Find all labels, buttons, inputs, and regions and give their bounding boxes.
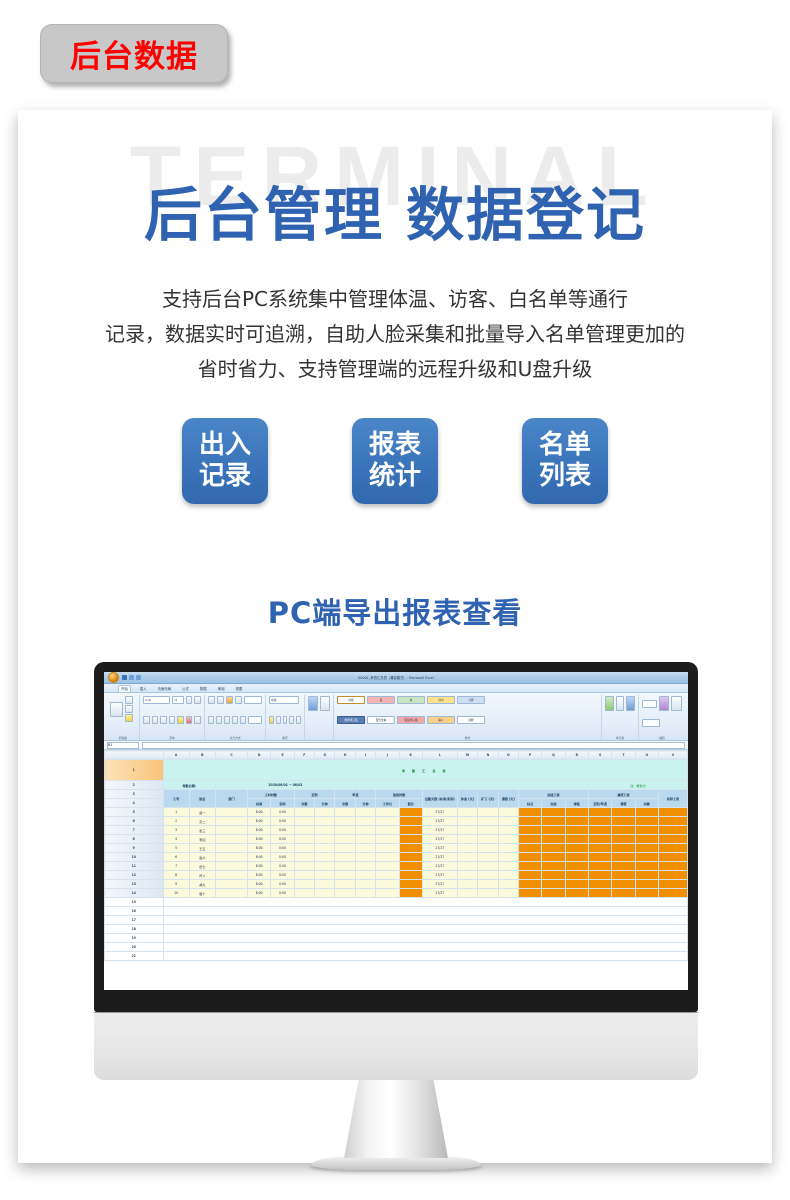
cell-attendance-days[interactable]: 27/27 xyxy=(422,835,457,844)
cell-deduct-other[interactable] xyxy=(635,853,658,862)
row-header-2[interactable]: 2 xyxy=(105,781,164,790)
sort-filter-icon[interactable] xyxy=(659,696,670,711)
cell-hours-standard[interactable]: 8:00 xyxy=(248,808,271,817)
table-row[interactable]: 10 6 赵六 8:00 0:00 27/27 xyxy=(105,853,688,862)
cell-otpay-base[interactable] xyxy=(518,808,541,817)
cell-deduct-late-early[interactable] xyxy=(588,835,611,844)
cell-emp-name[interactable]: 张三 xyxy=(189,826,215,835)
cell-otpay-overtime[interactable] xyxy=(542,835,565,844)
empty-cells[interactable] xyxy=(163,907,688,916)
cell-department[interactable] xyxy=(215,880,247,889)
row-header-10[interactable]: 10 xyxy=(105,853,164,862)
empty-row[interactable]: 19 xyxy=(105,934,688,943)
cell-otpay-allowance[interactable] xyxy=(565,862,588,871)
table-row[interactable]: 8 4 李四 8:00 0:00 27/27 xyxy=(105,835,688,844)
ribbon-tab-data[interactable]: 数据 xyxy=(198,686,209,692)
cell-otpay-base[interactable] xyxy=(518,862,541,871)
cell-leave-days[interactable] xyxy=(498,844,518,853)
empty-cells[interactable] xyxy=(163,943,688,952)
cell-attendance-days[interactable]: 27/27 xyxy=(422,889,457,898)
style-input[interactable]: 注释 xyxy=(457,716,485,724)
cell-absent-days[interactable] xyxy=(478,853,498,862)
cell-late-count[interactable] xyxy=(294,889,314,898)
row-header-1[interactable]: 1 xyxy=(105,760,164,781)
cell-otpay-overtime[interactable] xyxy=(542,889,565,898)
cell-attendance-days[interactable]: 27/27 xyxy=(422,853,457,862)
cell-emp-id[interactable]: 9 xyxy=(163,880,189,889)
cell-otpay-base[interactable] xyxy=(518,880,541,889)
table-row[interactable]: 11 7 田七 8:00 0:00 27/27 xyxy=(105,862,688,871)
cell-leave-days[interactable] xyxy=(498,817,518,826)
cell-early-minutes[interactable] xyxy=(355,862,375,871)
cell-ot-holiday[interactable] xyxy=(399,808,422,817)
row-header-3[interactable]: 3 xyxy=(105,790,164,799)
cell-otpay-base[interactable] xyxy=(518,817,541,826)
format-cells-icon[interactable] xyxy=(626,696,635,711)
row-header-18[interactable]: 18 xyxy=(105,925,164,934)
cell-actual-pay[interactable] xyxy=(658,889,687,898)
cell-ot-holiday[interactable] xyxy=(399,889,422,898)
delete-cells-icon[interactable] xyxy=(616,696,625,711)
format-painter-icon[interactable] xyxy=(125,714,133,722)
cell-actual-pay[interactable] xyxy=(658,826,687,835)
shrink-font-icon[interactable] xyxy=(194,696,201,704)
column-header-l[interactable]: L xyxy=(422,751,457,760)
cell-rest-days[interactable] xyxy=(457,844,477,853)
row-header-5[interactable]: 5 xyxy=(105,808,164,817)
cell-late-count[interactable] xyxy=(294,862,314,871)
decrease-decimal-icon[interactable] xyxy=(296,716,301,724)
cell-deduct-late-early[interactable] xyxy=(588,880,611,889)
cell-emp-id[interactable]: 4 xyxy=(163,835,189,844)
table-row[interactable]: 7 3 张三 8:00 0:00 27/27 xyxy=(105,826,688,835)
table-row[interactable]: 14 10 程十 8:00 0:00 27/27 xyxy=(105,889,688,898)
cell-actual-pay[interactable] xyxy=(658,880,687,889)
cell-otpay-overtime[interactable] xyxy=(542,826,565,835)
formula-input[interactable] xyxy=(142,742,685,749)
cell-deduct-leave[interactable] xyxy=(612,835,635,844)
percent-icon[interactable] xyxy=(276,716,281,724)
cell-late-count[interactable] xyxy=(294,835,314,844)
cell-otpay-base[interactable] xyxy=(518,871,541,880)
column-header-s[interactable]: S xyxy=(588,751,611,760)
increase-decimal-icon[interactable] xyxy=(289,716,294,724)
cell-deduct-leave[interactable] xyxy=(612,844,635,853)
italic-icon[interactable] xyxy=(152,716,159,724)
empty-row[interactable]: 17 xyxy=(105,916,688,925)
cell-otpay-allowance[interactable] xyxy=(565,835,588,844)
cell-otpay-overtime[interactable] xyxy=(542,808,565,817)
cell-ot-weekday[interactable] xyxy=(376,871,399,880)
cell-otpay-overtime[interactable] xyxy=(542,844,565,853)
cell-ot-holiday[interactable] xyxy=(399,826,422,835)
row-header-6[interactable]: 6 xyxy=(105,817,164,826)
cell-hours-standard[interactable]: 8:00 xyxy=(248,880,271,889)
cell-attendance-days[interactable]: 27/27 xyxy=(422,862,457,871)
cell-department[interactable] xyxy=(215,871,247,880)
cell-hours-actual[interactable]: 0:00 xyxy=(271,853,294,862)
decrease-indent-icon[interactable] xyxy=(232,716,238,724)
feature-button-entry-record[interactable]: 出入 记录 xyxy=(182,418,268,504)
cell-early-count[interactable] xyxy=(335,853,355,862)
style-check-cell[interactable]: 检查单元格 xyxy=(337,716,365,724)
cell-department[interactable] xyxy=(215,808,247,817)
cell-emp-id[interactable]: 3 xyxy=(163,826,189,835)
row-header-13[interactable]: 13 xyxy=(105,880,164,889)
cell-hours-standard[interactable]: 8:00 xyxy=(248,844,271,853)
ribbon-tab-review[interactable]: 审阅 xyxy=(216,686,227,692)
cell-otpay-allowance[interactable] xyxy=(565,826,588,835)
column-header-u[interactable]: U xyxy=(635,751,658,760)
cell-actual-pay[interactable] xyxy=(658,808,687,817)
font-family-select[interactable]: Arial xyxy=(143,696,170,704)
cell-ot-holiday[interactable] xyxy=(399,853,422,862)
column-header-m[interactable]: M xyxy=(457,751,477,760)
cell-absent-days[interactable] xyxy=(478,844,498,853)
cell-deduct-leave[interactable] xyxy=(612,880,635,889)
align-center-icon[interactable] xyxy=(216,716,222,724)
cell-emp-name[interactable]: 赵一 xyxy=(189,808,215,817)
cell-early-count[interactable] xyxy=(335,817,355,826)
wrap-text-button[interactable] xyxy=(244,696,262,704)
cell-deduct-other[interactable] xyxy=(635,880,658,889)
cell-ot-weekday[interactable] xyxy=(376,808,399,817)
cell-deduct-late-early[interactable] xyxy=(588,844,611,853)
align-bottom-icon[interactable] xyxy=(226,696,233,704)
ribbon-tab-formulas[interactable]: 公式 xyxy=(180,686,191,692)
cell-actual-pay[interactable] xyxy=(658,844,687,853)
cut-icon[interactable] xyxy=(125,696,133,704)
cell-department[interactable] xyxy=(215,844,247,853)
column-header-n[interactable]: N xyxy=(478,751,498,760)
format-as-table-icon[interactable] xyxy=(320,696,330,711)
cell-rest-days[interactable] xyxy=(457,862,477,871)
row-header-16[interactable]: 16 xyxy=(105,907,164,916)
cell-hours-actual[interactable]: 0:00 xyxy=(271,889,294,898)
table-row[interactable]: 12 8 符八 8:00 0:00 27/27 xyxy=(105,871,688,880)
cell-early-minutes[interactable] xyxy=(355,844,375,853)
cell-ot-weekday[interactable] xyxy=(376,817,399,826)
column-header-c[interactable]: C xyxy=(215,751,247,760)
cell-deduct-leave[interactable] xyxy=(612,889,635,898)
cell-deduct-other[interactable] xyxy=(635,835,658,844)
cell-early-count[interactable] xyxy=(335,844,355,853)
column-header-j[interactable]: J xyxy=(376,751,399,760)
row-header-15[interactable]: 15 xyxy=(105,898,164,907)
copy-icon[interactable] xyxy=(125,705,133,713)
cell-late-minutes[interactable] xyxy=(315,880,335,889)
cell-early-minutes[interactable] xyxy=(355,889,375,898)
cell-early-count[interactable] xyxy=(335,880,355,889)
empty-row[interactable]: 20 xyxy=(105,943,688,952)
cell-emp-name[interactable]: 李四 xyxy=(189,835,215,844)
cell-early-count[interactable] xyxy=(335,862,355,871)
empty-cells[interactable] xyxy=(163,916,688,925)
comma-icon[interactable] xyxy=(283,716,288,724)
column-header-k[interactable]: K xyxy=(399,751,422,760)
cell-ot-holiday[interactable] xyxy=(399,817,422,826)
style-normal[interactable]: 常规 xyxy=(337,696,365,704)
cell-emp-name[interactable]: 符八 xyxy=(189,871,215,880)
border-icon[interactable] xyxy=(169,716,176,724)
cell-emp-name[interactable]: 王五 xyxy=(189,844,215,853)
column-header-b[interactable]: B xyxy=(189,751,215,760)
cell-late-count[interactable] xyxy=(294,871,314,880)
cell-emp-id[interactable]: 8 xyxy=(163,871,189,880)
cell-hours-standard[interactable]: 8:00 xyxy=(248,826,271,835)
cell-late-count[interactable] xyxy=(294,826,314,835)
cell-rest-days[interactable] xyxy=(457,880,477,889)
cell-emp-id[interactable]: 5 xyxy=(163,844,189,853)
cell-otpay-overtime[interactable] xyxy=(542,880,565,889)
cell-early-minutes[interactable] xyxy=(355,808,375,817)
table-row[interactable]: 9 5 王五 8:00 0:00 27/27 xyxy=(105,844,688,853)
cell-hours-actual[interactable]: 0:00 xyxy=(271,835,294,844)
cell-emp-id[interactable]: 1 xyxy=(163,808,189,817)
cell-ot-holiday[interactable] xyxy=(399,880,422,889)
cell-early-minutes[interactable] xyxy=(355,835,375,844)
cell-hours-standard[interactable]: 8:00 xyxy=(248,853,271,862)
cell-ot-weekday[interactable] xyxy=(376,880,399,889)
cell-early-count[interactable] xyxy=(335,889,355,898)
cell-otpay-base[interactable] xyxy=(518,889,541,898)
ribbon-tab-home[interactable]: 开始 xyxy=(118,685,131,692)
cell-emp-name[interactable]: 田七 xyxy=(189,862,215,871)
cell-otpay-overtime[interactable] xyxy=(542,817,565,826)
cell-deduct-leave[interactable] xyxy=(612,853,635,862)
cell-rest-days[interactable] xyxy=(457,817,477,826)
cell-hours-standard[interactable]: 8:00 xyxy=(248,835,271,844)
find-select-icon[interactable] xyxy=(671,696,682,711)
row-header-20[interactable]: 20 xyxy=(105,943,164,952)
cell-hours-standard[interactable]: 8:00 xyxy=(248,889,271,898)
cell-deduct-late-early[interactable] xyxy=(588,808,611,817)
row-header-12[interactable]: 12 xyxy=(105,871,164,880)
cell-deduct-other[interactable] xyxy=(635,844,658,853)
ribbon-tab-page-layout[interactable]: 页面布局 xyxy=(156,686,174,692)
cell-late-count[interactable] xyxy=(294,880,314,889)
cell-otpay-overtime[interactable] xyxy=(542,871,565,880)
cell-early-minutes[interactable] xyxy=(355,826,375,835)
cell-rest-days[interactable] xyxy=(457,835,477,844)
cell-otpay-base[interactable] xyxy=(518,844,541,853)
cell-early-minutes[interactable] xyxy=(355,880,375,889)
feature-button-name-list[interactable]: 名单 列表 xyxy=(522,418,608,504)
number-format-select[interactable]: 常规 xyxy=(269,696,299,704)
cell-otpay-allowance[interactable] xyxy=(565,871,588,880)
cell-early-minutes[interactable] xyxy=(355,853,375,862)
cell-otpay-allowance[interactable] xyxy=(565,889,588,898)
cell-deduct-late-early[interactable] xyxy=(588,826,611,835)
cell-department[interactable] xyxy=(215,889,247,898)
empty-row[interactable]: 16 xyxy=(105,907,688,916)
cell-deduct-other[interactable] xyxy=(635,862,658,871)
cell-rest-days[interactable] xyxy=(457,853,477,862)
cell-leave-days[interactable] xyxy=(498,862,518,871)
autosum-button[interactable] xyxy=(642,700,657,708)
cell-ot-weekday[interactable] xyxy=(376,862,399,871)
cell-early-count[interactable] xyxy=(335,835,355,844)
empty-cells[interactable] xyxy=(163,934,688,943)
empty-row[interactable]: 18 xyxy=(105,925,688,934)
cell-ot-holiday[interactable] xyxy=(399,871,422,880)
cell-hours-actual[interactable]: 0:00 xyxy=(271,880,294,889)
merge-center-button[interactable] xyxy=(248,716,262,724)
cell-otpay-allowance[interactable] xyxy=(565,844,588,853)
table-row[interactable]: 13 9 胡九 8:00 0:00 27/27 xyxy=(105,880,688,889)
column-header-v[interactable]: V xyxy=(658,751,687,760)
row-header-8[interactable]: 8 xyxy=(105,835,164,844)
cell-hours-actual[interactable]: 0:00 xyxy=(271,817,294,826)
cell-deduct-late-early[interactable] xyxy=(588,871,611,880)
cell-ot-holiday[interactable] xyxy=(399,835,422,844)
style-bad[interactable]: 差 xyxy=(367,696,395,704)
cell-deduct-other[interactable] xyxy=(635,817,658,826)
fill-color-icon[interactable] xyxy=(177,716,184,724)
cell-hours-actual[interactable]: 0:00 xyxy=(271,844,294,853)
cell-hours-standard[interactable]: 8:00 xyxy=(248,862,271,871)
cell-attendance-days[interactable]: 27/27 xyxy=(422,880,457,889)
cell-actual-pay[interactable] xyxy=(658,871,687,880)
font-color-icon[interactable] xyxy=(186,716,193,724)
column-header-o[interactable]: O xyxy=(498,751,518,760)
cell-late-minutes[interactable] xyxy=(315,817,335,826)
cell-late-minutes[interactable] xyxy=(315,862,335,871)
cell-leave-days[interactable] xyxy=(498,880,518,889)
cell-absent-days[interactable] xyxy=(478,862,498,871)
font-size-select[interactable]: 11 xyxy=(172,696,184,704)
cell-late-minutes[interactable] xyxy=(315,808,335,817)
cell-department[interactable] xyxy=(215,862,247,871)
conditional-formatting-icon[interactable] xyxy=(308,696,318,711)
cell-deduct-leave[interactable] xyxy=(612,817,635,826)
align-middle-icon[interactable] xyxy=(217,696,224,704)
cell-emp-name[interactable]: 赵六 xyxy=(189,853,215,862)
cell-late-minutes[interactable] xyxy=(315,826,335,835)
cell-attendance-days[interactable]: 27/27 xyxy=(422,826,457,835)
cell-absent-days[interactable] xyxy=(478,808,498,817)
cell-early-count[interactable] xyxy=(335,808,355,817)
column-header-f[interactable]: F xyxy=(294,751,314,760)
cell-attendance-days[interactable]: 27/27 xyxy=(422,808,457,817)
cell-early-count[interactable] xyxy=(335,871,355,880)
cell-otpay-base[interactable] xyxy=(518,826,541,835)
cell-department[interactable] xyxy=(215,817,247,826)
cell-leave-days[interactable] xyxy=(498,871,518,880)
cell-hours-actual[interactable]: 0:00 xyxy=(271,871,294,880)
cell-ot-weekday[interactable] xyxy=(376,853,399,862)
cell-leave-days[interactable] xyxy=(498,826,518,835)
column-header-t[interactable]: T xyxy=(612,751,635,760)
column-header-q[interactable]: Q xyxy=(542,751,565,760)
empty-cells[interactable] xyxy=(163,898,688,907)
cell-ot-weekday[interactable] xyxy=(376,844,399,853)
row-header-21[interactable]: 21 xyxy=(105,952,164,961)
style-calculation[interactable]: 计算 xyxy=(457,696,485,704)
increase-indent-icon[interactable] xyxy=(240,716,246,724)
cell-deduct-leave[interactable] xyxy=(612,862,635,871)
style-linked-cell[interactable]: 输入 xyxy=(427,716,455,724)
style-good[interactable]: 好 xyxy=(397,696,425,704)
cell-leave-days[interactable] xyxy=(498,808,518,817)
align-right-icon[interactable] xyxy=(224,716,230,724)
grow-font-icon[interactable] xyxy=(186,696,193,704)
insert-cells-icon[interactable] xyxy=(605,696,614,711)
cell-emp-name[interactable]: 胡九 xyxy=(189,880,215,889)
cell-otpay-allowance[interactable] xyxy=(565,808,588,817)
column-header-d[interactable]: D xyxy=(248,751,271,760)
column-header-g[interactable]: G xyxy=(315,751,335,760)
cell-otpay-base[interactable] xyxy=(518,853,541,862)
cell-deduct-late-early[interactable] xyxy=(588,853,611,862)
cell-rest-days[interactable] xyxy=(457,889,477,898)
orientation-icon[interactable] xyxy=(235,696,242,704)
cell-deduct-other[interactable] xyxy=(635,826,658,835)
column-header-p[interactable]: P xyxy=(518,751,541,760)
empty-row[interactable]: 21 xyxy=(105,952,688,961)
cell-actual-pay[interactable] xyxy=(658,817,687,826)
ribbon-tab-insert[interactable]: 插入 xyxy=(138,686,149,692)
cell-leave-days[interactable] xyxy=(498,835,518,844)
cell-deduct-other[interactable] xyxy=(635,889,658,898)
cell-deduct-leave[interactable] xyxy=(612,871,635,880)
cell-late-count[interactable] xyxy=(294,817,314,826)
row-header-19[interactable]: 19 xyxy=(105,934,164,943)
cell-emp-id[interactable]: 2 xyxy=(163,817,189,826)
paste-icon[interactable] xyxy=(110,702,123,717)
cell-otpay-allowance[interactable] xyxy=(565,853,588,862)
style-warning[interactable]: 链接单元格 xyxy=(397,716,425,724)
cell-deduct-other[interactable] xyxy=(635,871,658,880)
name-box[interactable]: B1 xyxy=(107,742,139,749)
cell-hours-standard[interactable]: 8:00 xyxy=(248,871,271,880)
cell-department[interactable] xyxy=(215,826,247,835)
cell-actual-pay[interactable] xyxy=(658,862,687,871)
cell-rest-days[interactable] xyxy=(457,871,477,880)
cell-actual-pay[interactable] xyxy=(658,853,687,862)
cell-early-minutes[interactable] xyxy=(355,817,375,826)
fill-button[interactable] xyxy=(642,719,660,727)
cell-deduct-late-early[interactable] xyxy=(588,817,611,826)
feature-button-report-stats[interactable]: 报表 统计 xyxy=(352,418,438,504)
cell-absent-days[interactable] xyxy=(478,817,498,826)
empty-cells[interactable] xyxy=(163,925,688,934)
align-left-icon[interactable] xyxy=(208,716,214,724)
cell-late-minutes[interactable] xyxy=(315,871,335,880)
cell-deduct-leave[interactable] xyxy=(612,808,635,817)
cell-attendance-days[interactable]: 27/27 xyxy=(422,844,457,853)
cell-late-count[interactable] xyxy=(294,844,314,853)
cell-ot-weekday[interactable] xyxy=(376,826,399,835)
cell-hours-actual[interactable]: 0:00 xyxy=(271,862,294,871)
style-explanatory[interactable]: 警告文本 xyxy=(367,716,395,724)
empty-cells[interactable] xyxy=(163,952,688,961)
column-header-e[interactable]: E xyxy=(271,751,294,760)
cell-otpay-overtime[interactable] xyxy=(542,853,565,862)
cell-emp-name[interactable]: 程十 xyxy=(189,889,215,898)
currency-icon[interactable] xyxy=(269,716,274,724)
cell-late-minutes[interactable] xyxy=(315,853,335,862)
row-header-11[interactable]: 11 xyxy=(105,862,164,871)
table-row[interactable]: 5 1 赵一 8:00 0:00 27/27 xyxy=(105,808,688,817)
cell-deduct-other[interactable] xyxy=(635,808,658,817)
font-more-icon[interactable] xyxy=(194,716,201,724)
cell-attendance-days[interactable]: 27/27 xyxy=(422,817,457,826)
cell-absent-days[interactable] xyxy=(478,880,498,889)
cell-absent-days[interactable] xyxy=(478,871,498,880)
style-neutral[interactable]: 适中 xyxy=(427,696,455,704)
cell-leave-days[interactable] xyxy=(498,853,518,862)
